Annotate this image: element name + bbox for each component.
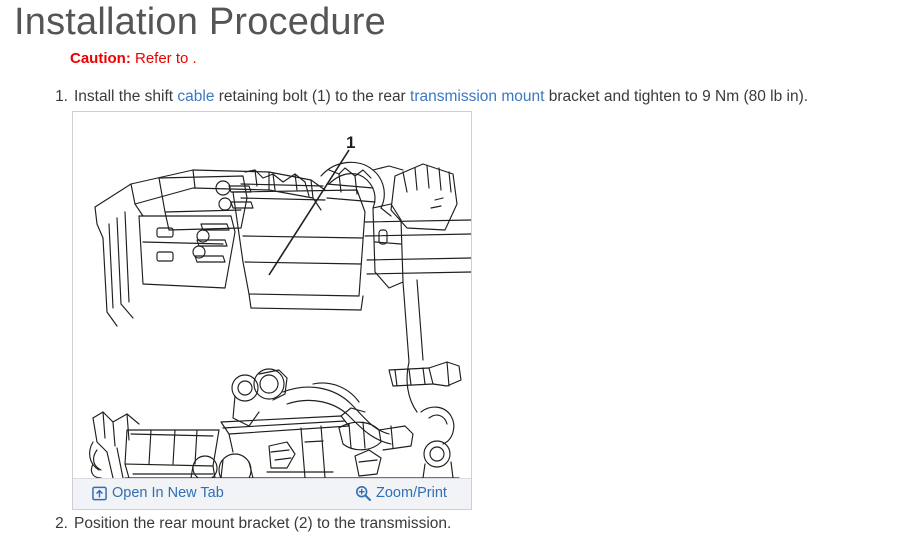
procedure-step-1: 1.Install the shift cable retaining bolt… <box>52 86 808 107</box>
procedure-step-2: 2.Position the rear mount bracket (2) to… <box>52 513 451 534</box>
transmission-mount-illustration <box>73 112 471 479</box>
step-1-text-c: bracket and tighten to 9 Nm (80 lb in). <box>544 88 808 105</box>
open-in-new-tab-icon <box>91 485 107 501</box>
open-in-new-tab-button[interactable]: Open In New Tab <box>91 484 224 502</box>
figure-image[interactable]: 1 <box>73 112 471 479</box>
caution-text: Refer to . <box>131 50 197 67</box>
open-in-new-tab-label: Open In New Tab <box>112 484 224 502</box>
figure-callout-1-label: 1 <box>346 133 355 153</box>
page-title: Installation Procedure <box>14 0 386 46</box>
caution-label: Caution: <box>70 50 131 67</box>
figure-panel: 1 Open In New Tab Zoom/Print <box>72 111 472 510</box>
zoom-print-label: Zoom/Print <box>376 484 447 502</box>
link-cable[interactable]: cable <box>177 88 214 105</box>
step-2-number: 2. <box>52 513 68 534</box>
step-2-text: Position the rear mount bracket (2) to t… <box>74 515 451 532</box>
link-transmission-mount[interactable]: transmission mount <box>410 88 544 105</box>
magnifier-plus-icon <box>355 485 371 501</box>
zoom-print-button[interactable]: Zoom/Print <box>355 484 447 502</box>
step-1-text-a: Install the shift <box>74 88 177 105</box>
step-1-text-b: retaining bolt (1) to the rear <box>214 88 410 105</box>
step-1-number: 1. <box>52 86 68 107</box>
caution-note: Caution: Refer to . <box>70 49 197 69</box>
figure-toolbar: Open In New Tab Zoom/Print <box>73 478 471 509</box>
